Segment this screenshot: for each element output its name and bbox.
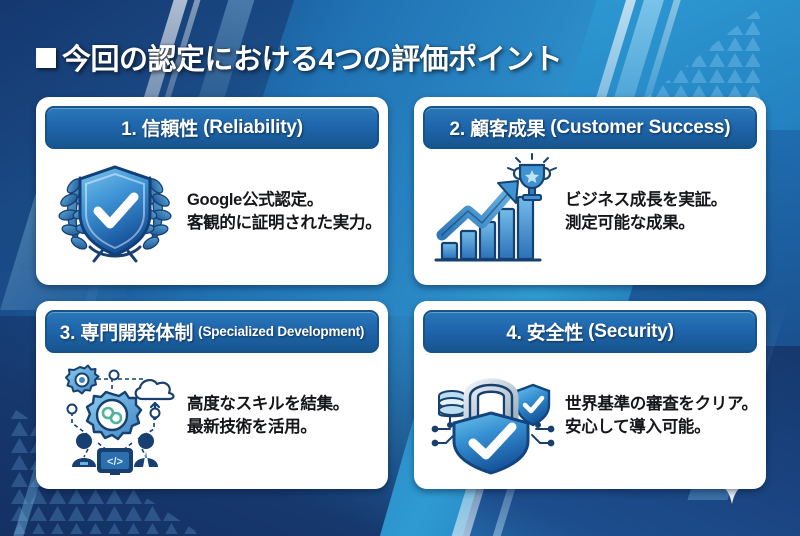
card-header-reliability: 1. 信頼性 (Reliability): [45, 106, 379, 149]
card-text-security: 世界基準の審査をクリア。 安心して導入可能。: [565, 393, 758, 439]
card-header-main-1: 1. 信頼性: [121, 114, 198, 141]
card-header-main-2: 2. 顧客成果: [450, 114, 546, 141]
card-body-specialized-development: </> 高度なスキルを結集。 最新技術を活用。: [45, 353, 379, 479]
title-text: 今回の認定における4つの評価ポイント: [62, 36, 562, 78]
card-text-line: ビジネス成長を実証。: [565, 189, 753, 212]
card-text-line: Google公式認定。: [187, 189, 381, 212]
card-body-customer-success: ビジネス成長を実証。 測定可能な成果。: [423, 149, 757, 275]
card-header-sub-4: (Security): [588, 321, 674, 343]
card-reliability[interactable]: 1. 信頼性 (Reliability): [36, 97, 388, 285]
gears-cloud-team-icon: </>: [49, 356, 181, 476]
slide-canvas: 今回の認定における4つの評価ポイント 1. 信頼性 (Reliability): [0, 0, 800, 536]
card-header-customer-success: 2. 顧客成果 (Customer Success): [423, 106, 757, 149]
card-header-sub-1: (Reliability): [203, 117, 303, 139]
card-text-reliability: Google公式認定。 客観的に証明された実力。: [187, 189, 381, 235]
card-text-customer-success: ビジネス成長を実証。 測定可能な成果。: [565, 189, 753, 235]
page-title: 今回の認定における4つの評価ポイント: [36, 36, 562, 78]
card-text-line: 世界基準の審査をクリア。: [565, 393, 758, 416]
title-bullet-square-icon: [36, 48, 56, 68]
card-text-line: 最新技術を活用。: [187, 416, 375, 439]
card-header-sub-2: (Customer Success): [550, 117, 730, 139]
card-specialized-development[interactable]: 3. 専門開発体制 (Specialized Development): [36, 301, 388, 489]
evaluation-points-grid: 1. 信頼性 (Reliability): [36, 97, 766, 489]
card-header-main-3: 3. 専門開発体制: [60, 318, 193, 345]
shield-check-laurel-icon: [49, 152, 181, 272]
card-security[interactable]: 4. 安全性 (Security): [414, 301, 766, 489]
card-body-security: 世界基準の審査をクリア。 安心して導入可能。: [423, 353, 757, 479]
card-header-sub-3: (Specialized Development): [198, 324, 364, 339]
card-header-specialized-development: 3. 専門開発体制 (Specialized Development): [45, 310, 379, 353]
card-text-line: 高度なスキルを結集。: [187, 393, 375, 416]
card-body-reliability: Google公式認定。 客観的に証明された実力。: [45, 149, 379, 275]
card-header-main-4: 4. 安全性: [506, 318, 583, 345]
card-text-specialized-development: 高度なスキルを結集。 最新技術を活用。: [187, 393, 375, 439]
card-text-line: 測定可能な成果。: [565, 212, 753, 235]
card-text-line: 客観的に証明された実力。: [187, 212, 381, 235]
card-header-security: 4. 安全性 (Security): [423, 310, 757, 353]
padlock-shield-database-icon: [427, 356, 559, 476]
card-customer-success[interactable]: 2. 顧客成果 (Customer Success): [414, 97, 766, 285]
svg-text:</>: </>: [107, 456, 123, 468]
growth-chart-trophy-icon: [427, 152, 559, 272]
card-text-line: 安心して導入可能。: [565, 416, 758, 439]
